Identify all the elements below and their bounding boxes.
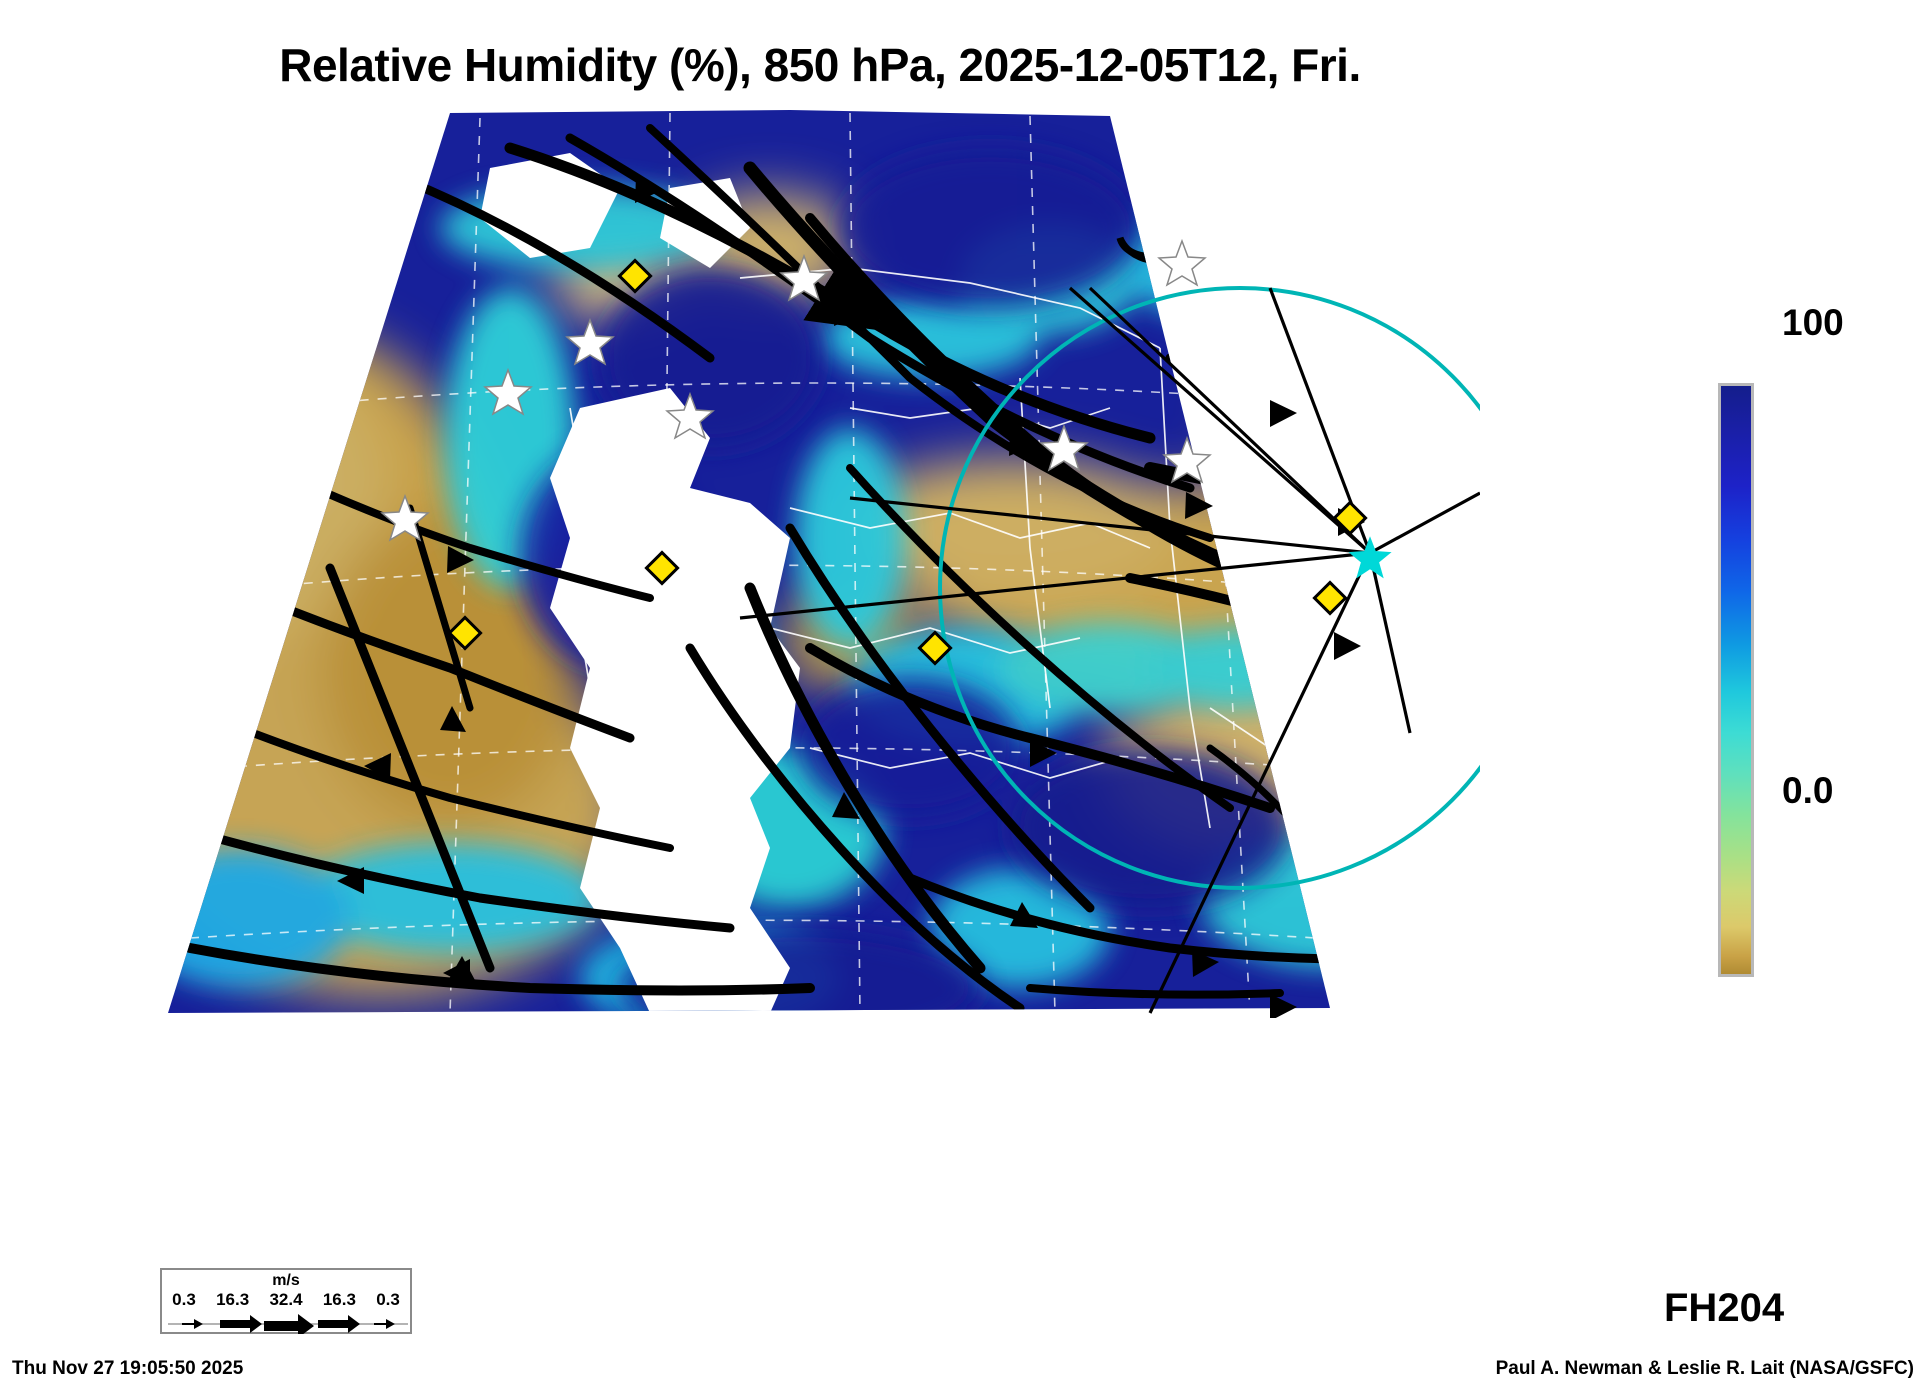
wind-tick-4: 0.3 (376, 1290, 400, 1310)
wind-tick-3: 16.3 (323, 1290, 356, 1310)
colorbar-min-label: 0.0 (1782, 770, 1833, 812)
map-panel[interactable] (150, 108, 1480, 1018)
colorbar-max-label: 100 (1782, 302, 1844, 344)
colorbar-gradient (1718, 383, 1754, 977)
weather-map[interactable] (150, 108, 1480, 1018)
wind-tick-2: 32.4 (269, 1290, 302, 1310)
wind-tick-0: 0.3 (172, 1290, 196, 1310)
wind-tick-1: 16.3 (216, 1290, 249, 1310)
wind-legend-ticks: 0.3 16.3 32.4 16.3 0.3 (162, 1290, 410, 1310)
author-credit: Paul A. Newman & Leslie R. Lait (NASA/GS… (1496, 1358, 1914, 1380)
generation-timestamp: Thu Nov 27 19:05:50 2025 (12, 1358, 243, 1380)
wind-legend-units: m/s (162, 1272, 410, 1290)
wind-speed-legend: m/s 0.3 16.3 32.4 16.3 0.3 (160, 1268, 412, 1334)
colorbar (1718, 383, 1754, 977)
forecast-hour-label: FH204 (1664, 1286, 1784, 1331)
page-title: Relative Humidity (%), 850 hPa, 2025-12-… (0, 38, 1640, 92)
wind-legend-arrows (168, 1314, 408, 1334)
